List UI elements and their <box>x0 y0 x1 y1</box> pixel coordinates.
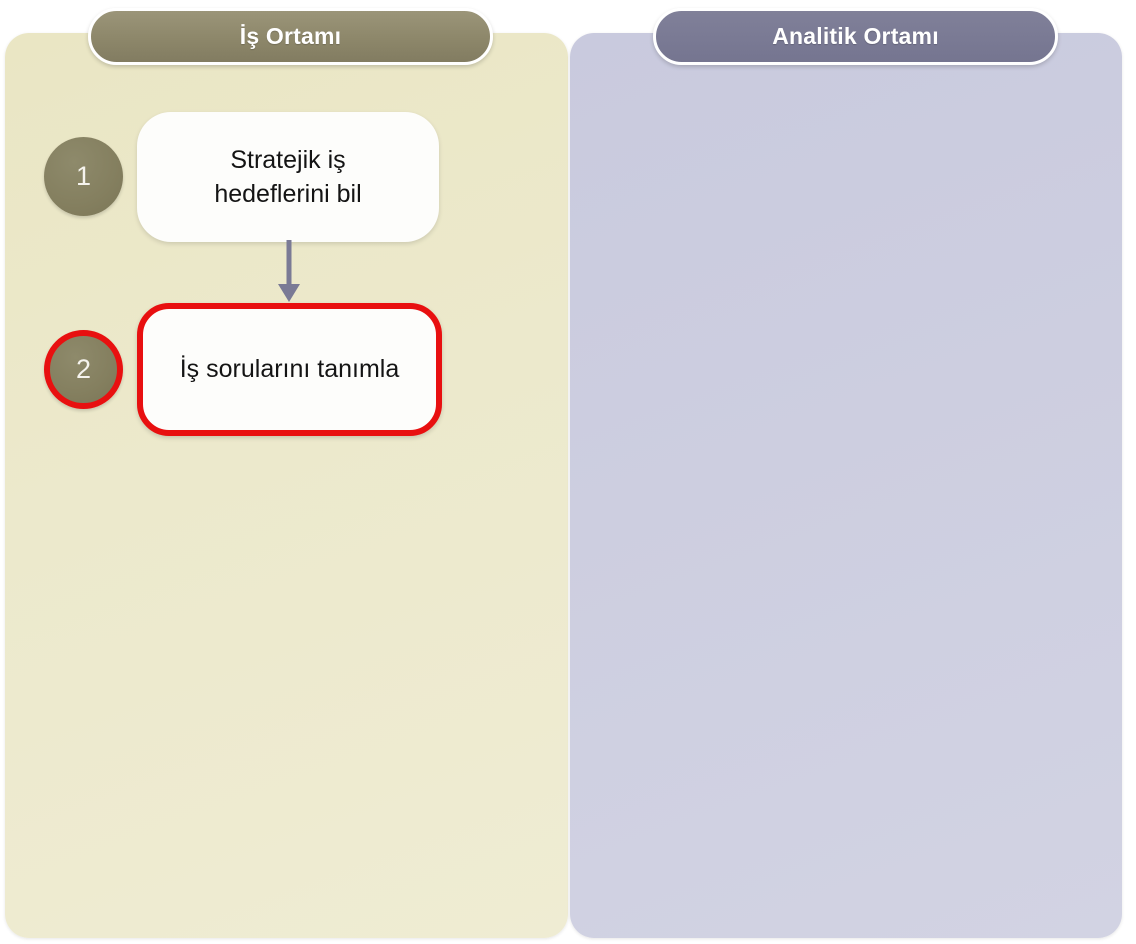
arrow-down-icon <box>272 240 306 304</box>
step-number-badge-2[interactable]: 2 <box>44 330 123 409</box>
panel-header-analytics-environment[interactable]: Analitik Ortamı <box>653 8 1058 65</box>
step-number-badge-1[interactable]: 1 <box>44 137 123 216</box>
step-number-label-2: 2 <box>76 354 91 385</box>
process-box-step-2[interactable]: İş sorularını tanımla <box>137 303 442 436</box>
panel-analytics-environment <box>570 33 1122 938</box>
panel-header-analytics-label: Analitik Ortamı <box>772 23 939 50</box>
panel-header-business-environment[interactable]: İş Ortamı <box>88 8 493 65</box>
diagram-canvas: İş Ortamı Analitik Ortamı 1 Stratejik iş… <box>0 0 1136 944</box>
process-box-step-1-line-2: hedeflerini bil <box>214 177 361 212</box>
process-box-step-1-line-1: Stratejik iş <box>214 143 361 178</box>
panel-header-business-label: İş Ortamı <box>240 23 342 50</box>
process-box-step-1-text: Stratejik iş hedeflerini bil <box>214 143 361 212</box>
process-box-step-1[interactable]: Stratejik iş hedeflerini bil <box>137 112 439 242</box>
process-box-step-2-line-1: İş sorularını tanımla <box>180 352 400 387</box>
step-number-label-1: 1 <box>76 161 91 192</box>
